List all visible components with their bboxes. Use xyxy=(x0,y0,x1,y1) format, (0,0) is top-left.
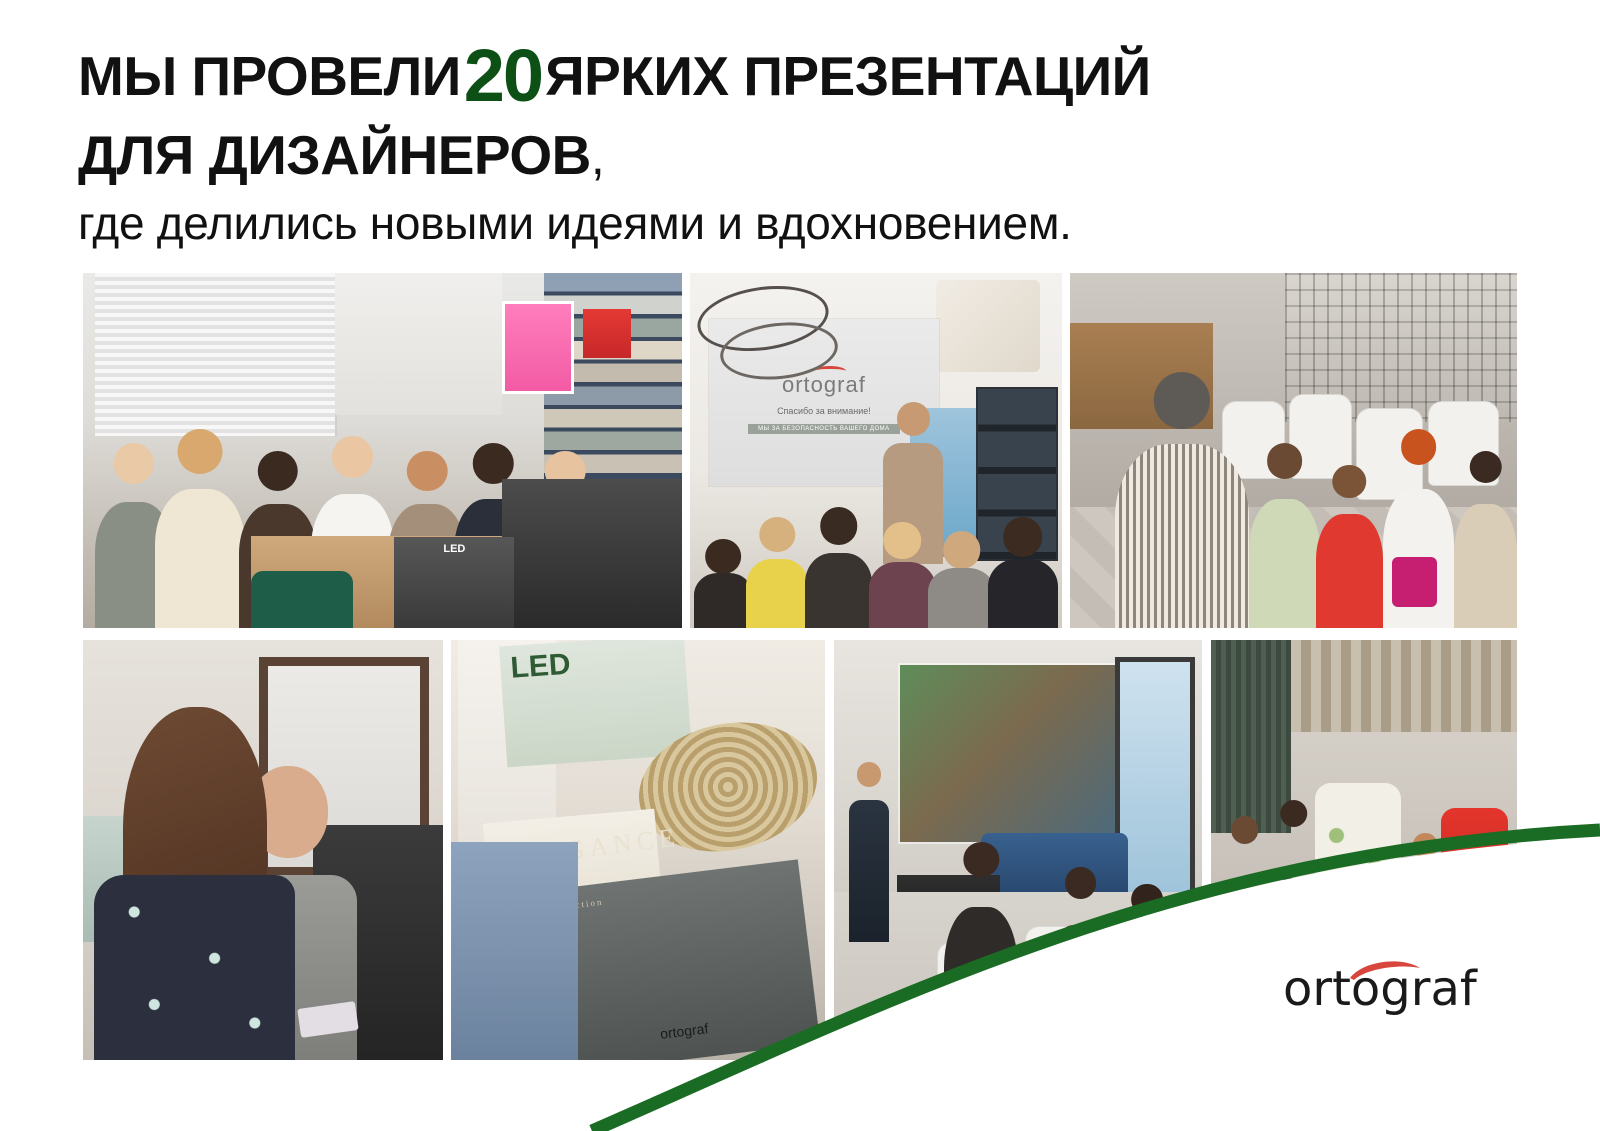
screen-thanks-text: Спасибо за внимание! xyxy=(777,406,871,416)
page-title: МЫ ПРОВЕЛИ20ЯРКИХ ПРЕЗЕНТАЦИЙ ДЛЯ ДИЗАЙН… xyxy=(78,38,1378,248)
audience-figure xyxy=(1115,372,1249,628)
ceiling-molding xyxy=(936,280,1040,372)
audience-figure xyxy=(1249,443,1321,628)
photo-speaker-projection: ortograf Спасибо за внимание! МЫ ЗА БЕЗО… xyxy=(690,273,1062,628)
sample-shelf xyxy=(1291,640,1517,732)
ortograf-logo: ortograf xyxy=(1283,965,1463,1025)
audience-figure xyxy=(1454,451,1517,629)
red-poster xyxy=(583,309,631,359)
window-blinds xyxy=(95,273,337,436)
audience-figure xyxy=(944,842,1018,1060)
audience-figure xyxy=(869,522,936,628)
audience-figure xyxy=(1217,816,1272,1060)
led-product-box: LED xyxy=(394,537,514,628)
photo-catalogue-elegance: LED ELEGANCE collection ortograf xyxy=(451,640,825,1060)
gallery-row-1: LED ortograf Спасибо за внимание! МЫ ЗА … xyxy=(83,273,1517,628)
back-wall xyxy=(335,273,503,415)
audience-figure xyxy=(988,517,1059,628)
audience-figure xyxy=(1047,867,1113,1060)
audience-figure xyxy=(805,507,872,628)
audience-figure xyxy=(1316,465,1383,628)
photo-showroom-audience: LED xyxy=(83,273,682,628)
presenter-person xyxy=(849,800,889,943)
pink-handbag xyxy=(1392,557,1437,607)
audience-figure xyxy=(746,517,809,628)
headline-count: 20 xyxy=(461,34,545,117)
audience-figure xyxy=(1114,884,1180,1060)
headline-line-2-text: ДЛЯ ДИЗАЙНЕРОВ xyxy=(78,124,591,186)
audience-figure xyxy=(694,539,754,628)
dark-display-unit xyxy=(502,479,682,628)
pink-poster xyxy=(502,301,574,393)
red-outfit-guest xyxy=(1441,808,1508,976)
headline-line-2: ДЛЯ ДИЗАЙНЕРОВ, xyxy=(78,127,1378,184)
screen-tagline-strip: МЫ ЗА БЕЗОПАСНОСТЬ ВАШЕГО ДОМА xyxy=(748,424,900,434)
audience-figure xyxy=(928,531,995,628)
projector-screen xyxy=(900,665,1121,841)
headline-text-before: МЫ ПРОВЕЛИ xyxy=(78,45,461,107)
headline-subtitle: где делились новыми идеями и вдохновение… xyxy=(78,200,1378,248)
photo-couple-phone xyxy=(83,640,443,1060)
headline-comma: , xyxy=(591,129,604,185)
audience-figure xyxy=(1401,833,1450,1060)
headline-line-1: МЫ ПРОВЕЛИ20ЯРКИХ ПРЕЗЕНТАЦИЙ xyxy=(78,38,1378,115)
led-card-label: LED xyxy=(510,648,572,685)
woman-patterned-blouse xyxy=(94,875,296,1060)
denim-jeans xyxy=(451,842,578,1060)
audience-figure xyxy=(155,429,245,628)
headline-text-after: ЯРКИХ ПРЕЗЕНТАЦИЙ xyxy=(545,45,1151,107)
slide-root: МЫ ПРОВЕЛИ20ЯРКИХ ПРЕЗЕНТАЦИЙ ДЛЯ ДИЗАЙН… xyxy=(0,0,1600,1131)
green-velvet-chair xyxy=(251,571,353,628)
red-swoosh-icon xyxy=(1349,959,1421,981)
audience-row xyxy=(690,507,1062,628)
photo-gallery: LED ortograf Спасибо за внимание! МЫ ЗА … xyxy=(83,273,1517,1060)
led-box-label: LED xyxy=(443,543,465,555)
photo-seated-audience xyxy=(1070,273,1517,628)
photo-projector-room xyxy=(834,640,1202,1060)
